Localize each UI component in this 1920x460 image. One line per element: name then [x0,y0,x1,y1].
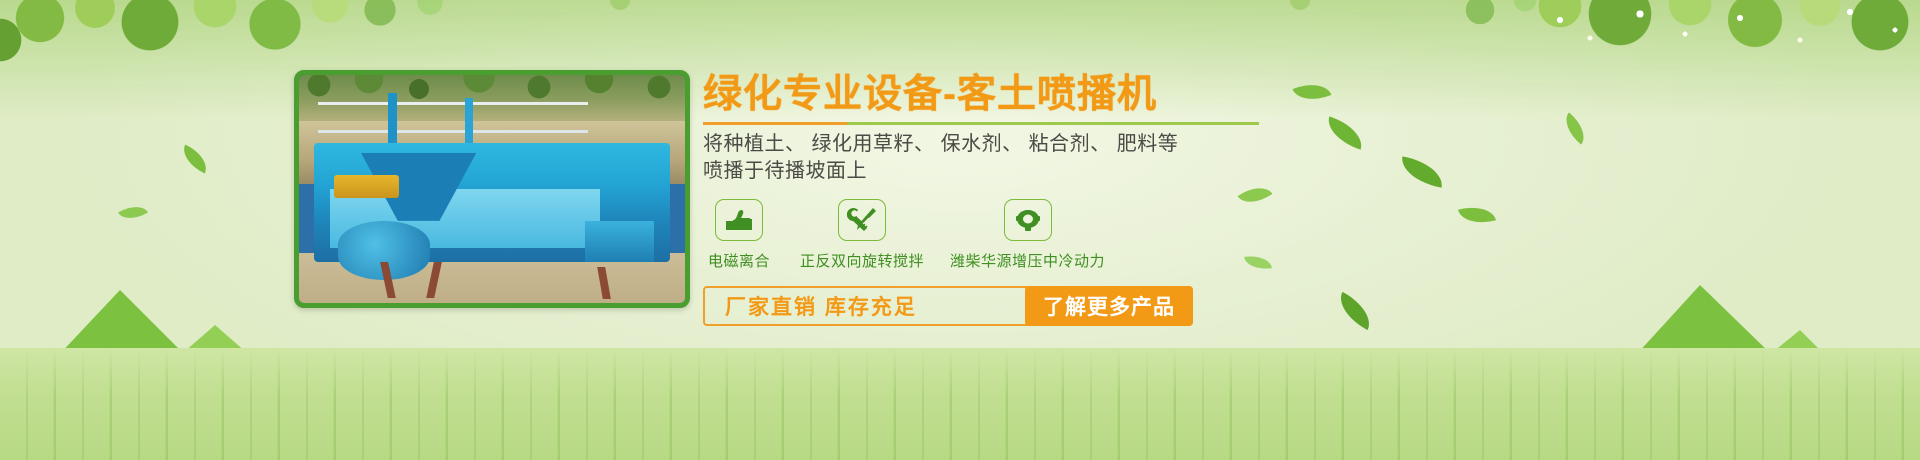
product-photo-image [299,75,685,303]
thumbs-up-icon [724,207,754,233]
engine-gear-icon [1013,207,1043,233]
banner-subtitle-line2: 喷播于待播坡面上 [703,158,1263,185]
blossom-decoration [1500,0,1920,90]
leaf-decoration [178,145,213,174]
learn-more-button-label: 了解更多产品 [1043,291,1175,321]
feature-label: 潍柴华源增压中冷动力 [950,250,1105,271]
leaf-decoration [118,200,148,226]
feature-item-bidirectional-mixing: 正反双向旋转搅拌 [800,199,924,271]
banner-subtitle-line1: 将种植土、 绿化用草籽、 保水剂、 粘合剂、 肥料等 [703,131,1263,158]
feature-item-weichai-engine: 潍柴华源增压中冷动力 [950,199,1105,271]
feature-icon-box [715,199,763,241]
grass-tufts-decoration [0,348,1920,460]
leaf-decoration [1458,201,1496,229]
feature-label: 电磁离合 [708,250,770,271]
cta-slogan: 厂家直销 库存充足 [705,291,917,321]
title-divider [703,122,1259,125]
feature-icon-box [1004,199,1052,241]
learn-more-button[interactable]: 了解更多产品 [1025,286,1193,326]
feature-label: 正反双向旋转搅拌 [800,250,924,271]
feature-item-electromagnetic-clutch: 电磁离合 [708,199,770,271]
banner-title: 绿化专业设备-客土喷播机 [703,72,1263,118]
feature-icon-box [838,199,886,241]
product-photo [294,70,690,308]
promo-banner: 绿化专业设备-客土喷播机 将种植土、 绿化用草籽、 保水剂、 粘合剂、 肥料等 … [0,0,1920,460]
banner-content: 绿化专业设备-客土喷播机 将种植土、 绿化用草籽、 保水剂、 粘合剂、 肥料等 … [703,72,1263,326]
cta-bar: 厂家直销 库存充足 了解更多产品 [703,286,1193,326]
leaf-decoration [1323,116,1368,149]
wrench-screwdriver-icon [847,206,877,234]
leaf-decoration [1398,156,1445,187]
feature-list: 电磁离合 正反双向旋转搅拌 [703,199,1263,271]
